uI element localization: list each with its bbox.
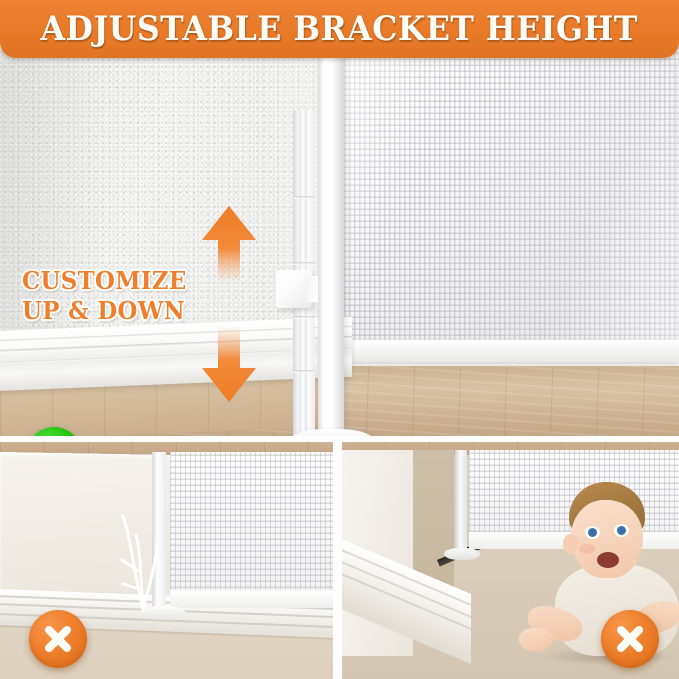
callout-line-1: CUSTOMIZE xyxy=(22,266,212,296)
baby-ear xyxy=(563,534,578,554)
down-arrow-icon xyxy=(202,326,256,402)
callout-line-2: UP & DOWN xyxy=(22,296,212,326)
baby-right-pupil xyxy=(617,526,626,535)
customize-callout: CUSTOMIZE UP & DOWN xyxy=(22,266,212,326)
br-post-foot xyxy=(444,548,480,560)
product-infographic: CUSTOMIZE UP & DOWN ADJUSTABLE BRACKET H… xyxy=(0,0,679,679)
close-icon xyxy=(41,622,75,656)
post-segment-line xyxy=(293,316,315,319)
header-banner: ADJUSTABLE BRACKET HEIGHT xyxy=(0,0,679,58)
close-icon xyxy=(613,622,647,656)
vertical-divider xyxy=(333,440,342,679)
bl-mesh-hem xyxy=(170,590,333,608)
baby-cheek xyxy=(579,544,595,554)
post-segment-line xyxy=(293,262,315,265)
post-segment-line xyxy=(293,196,315,199)
br-gate-post xyxy=(455,450,467,552)
bl-mesh-gate xyxy=(170,452,333,594)
page-title: ADJUSTABLE BRACKET HEIGHT xyxy=(41,9,638,49)
gate-post-outer xyxy=(318,48,344,440)
baby-left-hand xyxy=(519,628,553,652)
x-badge-wall-damage xyxy=(29,610,87,668)
baby-mouth xyxy=(597,552,619,568)
baby-left-pupil xyxy=(588,528,597,537)
mesh-bottom-hem xyxy=(339,340,679,362)
x-badge-floor-gap xyxy=(601,610,659,668)
wall-mount-plate-notch xyxy=(306,276,318,302)
wall-crack-icon xyxy=(96,502,166,612)
hero-panel: CUSTOMIZE UP & DOWN xyxy=(0,48,679,440)
mesh-gate-panel xyxy=(339,48,679,348)
post-segment-line xyxy=(293,370,315,373)
